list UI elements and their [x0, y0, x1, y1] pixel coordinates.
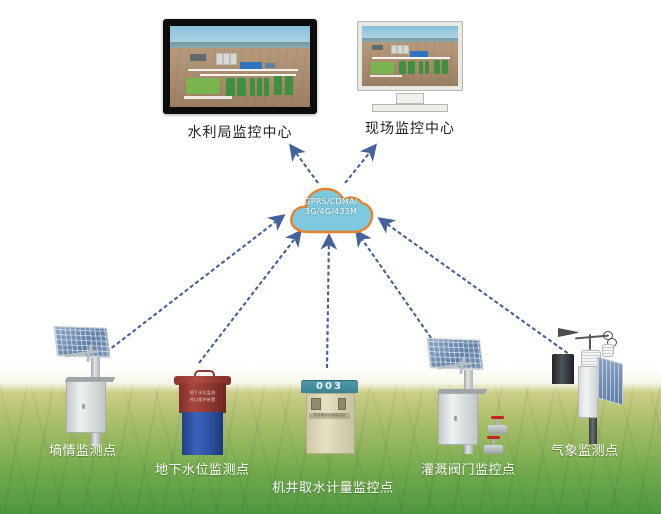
well-body-text-line1: 地下水位监测 [179, 390, 226, 395]
well-casing [182, 412, 223, 455]
monitor-screen-water-bureau [170, 26, 310, 107]
screen-crop-plot [226, 78, 235, 96]
cloud-label-line1: GPRS/CDMA/ [285, 197, 377, 207]
screen-tank [223, 53, 230, 65]
screen-tank [403, 45, 409, 54]
arrow-cloud-to-water-bureau [291, 146, 318, 183]
diagram-canvas: 水利局监控中心 [0, 0, 661, 514]
screen-pipeline [370, 75, 402, 77]
weather-datalogger [578, 366, 598, 418]
humidity-sensor [602, 344, 614, 357]
screen-shed [190, 54, 206, 61]
monitor-label-water-bureau: 水利局监控中心 [163, 122, 317, 142]
network-cloud[interactable]: GPRS/CDMA/ 3G/4G/433M [285, 183, 377, 235]
screen-crop-plot [186, 78, 220, 94]
station-groundwater-level[interactable]: 地下水位监测 井口保护装置 [170, 370, 240, 455]
arrow-groundwater-to-cloud [199, 232, 300, 363]
irrigation-valve-upper [486, 416, 508, 438]
station-irrigation-valve[interactable] [414, 332, 534, 454]
screen-tank [216, 53, 223, 65]
station-label-weather: 气象监测点 [551, 440, 619, 459]
monitor-stand [372, 93, 448, 112]
monitor-frame [357, 21, 463, 91]
monitor-screen-onsite [362, 26, 458, 86]
monitor-onsite[interactable]: 现场监控中心 [357, 21, 463, 91]
screen-crop-plot [274, 76, 282, 95]
monitor-bezel [163, 19, 317, 114]
station-well-metering[interactable]: 003 机井取水计量监控站 [300, 380, 360, 452]
screen-crop-plot [399, 61, 406, 74]
screen-crop-plot [285, 76, 293, 95]
cloud-label: GPRS/CDMA/ 3G/4G/433M [285, 197, 377, 217]
station-label-soil-moisture: 墒情监测点 [49, 440, 117, 459]
screen-crop-plot [425, 61, 429, 74]
screen-pipeline [188, 69, 298, 71]
station-label-well-metering: 机井取水计量监控点 [272, 477, 394, 496]
screen-crop-plot [442, 60, 448, 74]
station-label-irrigation-valve: 灌溉阀门监控点 [421, 459, 516, 478]
screen-crop-plot [237, 78, 246, 96]
rain-gauge [552, 354, 574, 384]
arrow-cloud-to-onsite [345, 146, 375, 183]
cabinet-latch [82, 404, 85, 409]
kiosk-window [338, 398, 346, 410]
screen-crop-plot [419, 61, 423, 74]
screen-crop-plot [264, 78, 269, 96]
solar-panel [597, 356, 623, 405]
kiosk-number: 003 [301, 381, 358, 392]
screen-crop-plot [371, 62, 394, 74]
valve-body [484, 445, 503, 454]
anemometer-shaft [589, 334, 591, 350]
screen-crop-plot [250, 78, 255, 96]
well-body-text-line2: 井口保护装置 [179, 397, 226, 402]
kiosk-window [311, 398, 321, 410]
screen-crop-plot [434, 60, 440, 74]
cabinet-latch [454, 416, 457, 421]
control-cabinet [438, 393, 478, 445]
screen-tank [230, 53, 237, 65]
monitor-stand-neck [396, 93, 424, 104]
screen-shed [372, 45, 383, 50]
screen-pipeline [184, 96, 232, 99]
screen-crop-plot [257, 78, 262, 96]
well-protection-head: 地下水位监测 井口保护装置 [179, 383, 226, 413]
screen-equipment [240, 62, 262, 69]
station-weather[interactable] [545, 322, 650, 444]
monitor-label-onsite: 现场监控中心 [357, 118, 463, 138]
irrigation-valve-lower [482, 436, 504, 458]
monitor-water-bureau[interactable]: 水利局监控中心 [163, 19, 317, 114]
kiosk-roof: 003 [301, 380, 358, 393]
screen-pipeline [372, 57, 450, 59]
valve-body [488, 425, 507, 434]
wind-vane [558, 328, 578, 337]
station-soil-moisture[interactable] [44, 322, 154, 447]
screen-equipment [265, 63, 275, 68]
screen-crop-plot [408, 61, 415, 74]
kiosk-sign-text: 机井取水计量监控站 [309, 413, 350, 417]
station-label-groundwater-level: 地下水位监测点 [155, 459, 250, 478]
kiosk-sign: 机井取水计量监控站 [309, 413, 350, 419]
cloud-label-line2: 3G/4G/433M [285, 207, 377, 217]
monitor-stand-base [372, 104, 448, 112]
control-cabinet [66, 381, 106, 433]
arrow-metering-to-cloud [327, 236, 329, 368]
